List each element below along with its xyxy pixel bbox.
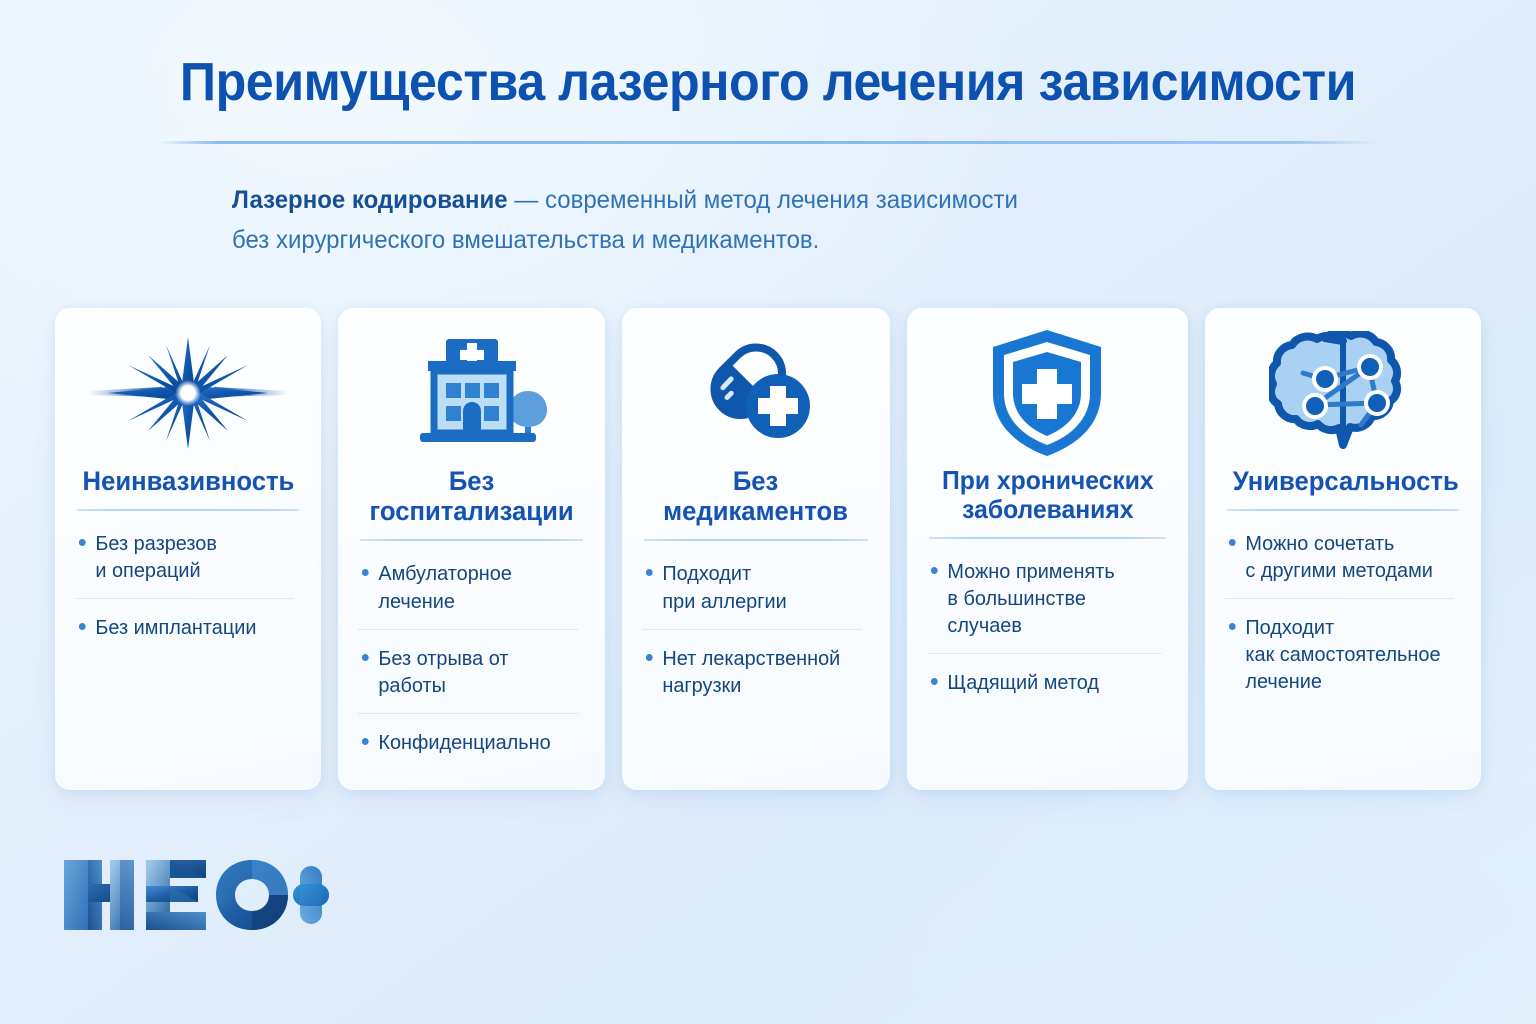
page-title: Преимущества лазерного лечения зависимос…	[54, 54, 1482, 111]
subtitle-line-1: Лазерное кодирование — современный метод…	[232, 180, 1192, 221]
benefit-list: Амбулаторное лечение Без отрыва от работ…	[358, 545, 585, 769]
list-item-text: Можно сочетать с другими методами	[1246, 530, 1434, 584]
bullet-dot-icon	[362, 738, 369, 745]
list-item: Конфиденциально	[358, 713, 578, 770]
list-item-text: Щадящий метод	[947, 669, 1099, 696]
list-item: Подходит как самостоятельное лечение	[1225, 598, 1454, 709]
bullet-dot-icon	[362, 654, 369, 661]
benefit-card-no-hospitalization[interactable]: Без госпитализации Амбулаторное лечение …	[338, 308, 605, 790]
bullet-dot-icon	[1229, 623, 1236, 630]
card-title: Универсальность	[1231, 466, 1455, 496]
benefit-card-noninvasive[interactable]: Неинвазивность Без разрезов и операций Б…	[55, 308, 321, 790]
pills-capsule-icon	[642, 320, 869, 466]
subtitle: Лазерное кодирование — современный метод…	[232, 180, 1192, 261]
card-title: Без госпитализации	[364, 466, 580, 526]
list-item-text: Без имплантации	[95, 614, 256, 641]
benefit-card-grid: Неинвазивность Без разрезов и операций Б…	[55, 308, 1481, 790]
card-title-separator	[929, 537, 1167, 539]
subtitle-lead: Лазерное кодирование	[232, 186, 508, 214]
list-item: Без разрезов и операций	[75, 515, 294, 598]
benefit-list: Можно сочетать с другими методами Подход…	[1225, 515, 1461, 709]
benefit-card-no-medication[interactable]: Без медикаментов Подходит при аллергии Н…	[622, 308, 889, 790]
list-item: Можно сочетать с другими методами	[1225, 515, 1454, 598]
list-item-text: Амбулаторное лечение	[379, 560, 512, 614]
bullet-dot-icon	[1229, 539, 1236, 546]
list-item-text: Подходит при аллергии	[663, 560, 787, 614]
card-title-separator	[644, 539, 867, 541]
bullet-dot-icon	[646, 654, 653, 661]
hospital-building-icon	[358, 320, 585, 466]
bullet-dot-icon	[930, 567, 937, 574]
list-item-text: Подходит как самостоятельное лечение	[1246, 614, 1441, 695]
card-title: Без медикаментов	[648, 466, 864, 526]
list-item-text: Нет лекарственной нагрузки	[663, 645, 841, 699]
laser-burst-icon	[75, 320, 301, 466]
list-item: Нет лекарственной нагрузки	[642, 629, 862, 713]
list-item-text: Без отрыва от работы	[379, 645, 579, 699]
list-item: Без имплантации	[75, 598, 294, 655]
subtitle-dash: —	[508, 186, 545, 214]
subtitle-rest: современный метод лечения зависимости	[545, 186, 1018, 214]
card-title-separator	[77, 509, 299, 511]
list-item: Можно применять в большинстве случаев	[927, 543, 1161, 653]
card-title-separator	[1227, 509, 1459, 511]
list-item: Без отрыва от работы	[358, 629, 578, 713]
benefit-card-chronic-conditions[interactable]: При хронических заболеваниях Можно приме…	[907, 308, 1189, 790]
list-item-text: Можно применять в большинстве случаев	[947, 558, 1161, 639]
benefit-list: Можно применять в большинстве случаев Ща…	[927, 543, 1169, 710]
benefit-list: Подходит при аллергии Нет лекарственной …	[642, 545, 869, 712]
list-item-text: Без разрезов и операций	[95, 530, 217, 584]
list-item: Подходит при аллергии	[642, 545, 862, 628]
card-title: При хронических заболеваниях	[933, 466, 1163, 524]
bullet-dot-icon	[930, 678, 937, 685]
bullet-dot-icon	[362, 569, 369, 576]
list-item-text: Конфиденциально	[379, 729, 551, 756]
neo-plus-logo	[62, 854, 330, 936]
bullet-dot-icon	[79, 539, 86, 546]
shield-cross-icon	[927, 320, 1169, 466]
brain-network-icon	[1225, 320, 1461, 466]
list-item: Щадящий метод	[927, 653, 1161, 710]
bullet-dot-icon	[79, 623, 86, 630]
card-title-separator	[360, 539, 583, 541]
title-divider	[156, 141, 1380, 144]
benefit-list: Без разрезов и операций Без имплантации	[75, 515, 301, 655]
benefit-card-universality[interactable]: Универсальность Можно сочетать с другими…	[1205, 308, 1481, 790]
subtitle-line-2: без хирургического вмешательства и медик…	[232, 220, 1192, 261]
bullet-dot-icon	[646, 569, 653, 576]
page-header: Преимущества лазерного лечения зависимос…	[0, 0, 1536, 144]
card-title: Неинвазивность	[81, 466, 296, 496]
list-item: Амбулаторное лечение	[358, 545, 578, 628]
